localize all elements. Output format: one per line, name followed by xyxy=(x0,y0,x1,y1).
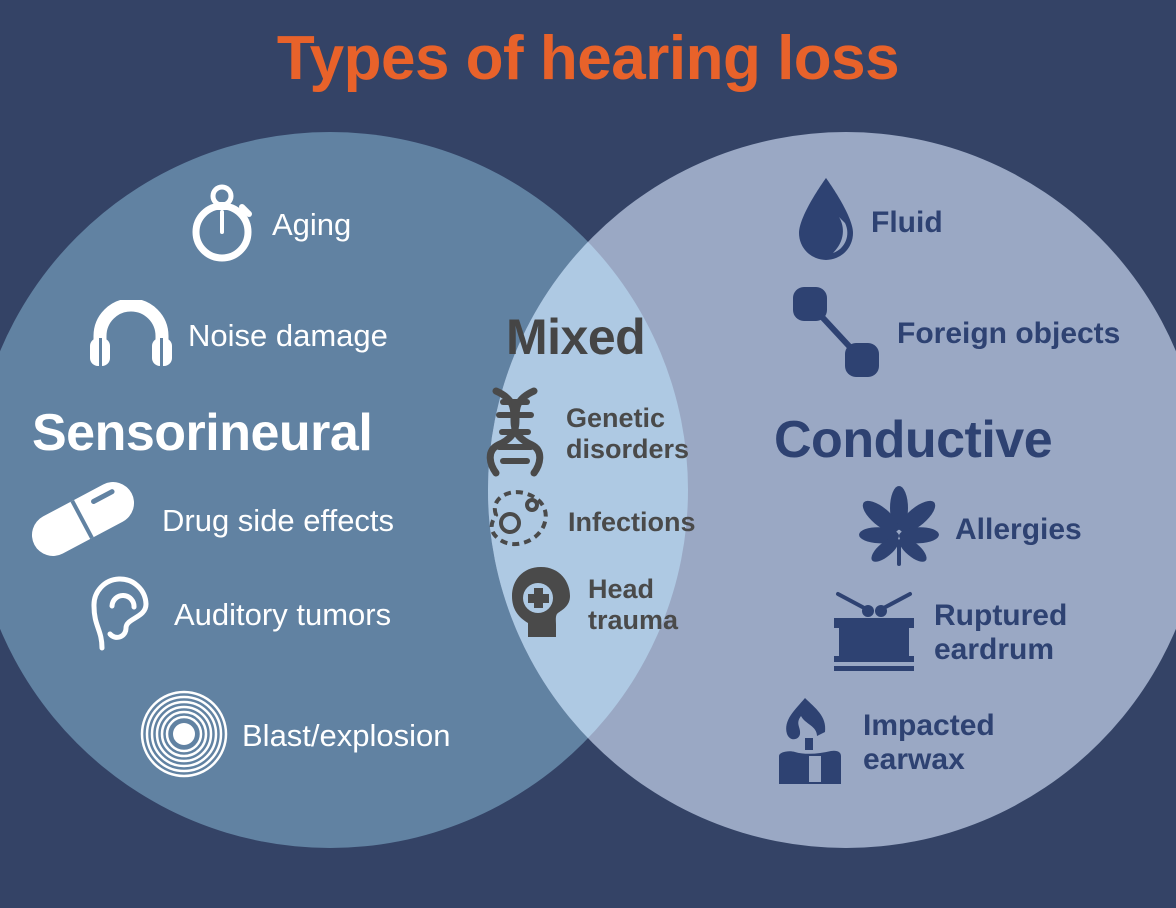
list-item-label: Fluid xyxy=(871,206,943,240)
water-drop-icon xyxy=(795,175,857,270)
cotton-swab-icon xyxy=(787,283,883,384)
list-item-blast-explosion: Blast/explosion xyxy=(140,690,451,783)
head-trauma-icon xyxy=(508,565,574,644)
list-item-allergies: Allergies xyxy=(857,486,1082,573)
stopwatch-icon xyxy=(186,182,258,269)
list-item-foreign-objects: Foreign objects xyxy=(787,283,1120,384)
bacteria-icon xyxy=(482,487,554,558)
leaf-icon xyxy=(857,486,941,573)
headphones-icon xyxy=(88,300,174,373)
list-item-label: Head trauma xyxy=(588,574,678,634)
list-item-fluid: Fluid xyxy=(795,175,943,270)
list-item-label: Genetic disorders xyxy=(566,403,689,463)
list-item-head-trauma: Head trauma xyxy=(508,565,678,644)
pill-icon xyxy=(18,480,148,563)
dna-icon xyxy=(478,385,552,482)
list-item-label: Ruptured eardrum xyxy=(934,599,1067,666)
list-item-label: Aging xyxy=(272,208,351,243)
list-item-auditory-tumors: Auditory tumors xyxy=(80,570,391,661)
list-item-label: Auditory tumors xyxy=(174,598,391,633)
list-item-label: Drug side effects xyxy=(162,504,394,539)
list-item-infections: Infections xyxy=(482,487,696,558)
list-item-label: Allergies xyxy=(955,513,1082,547)
set-heading-mixed: Mixed xyxy=(506,308,645,366)
list-item-label: Infections xyxy=(568,507,696,537)
candle-icon xyxy=(775,694,849,791)
list-item-label: Noise damage xyxy=(188,319,388,354)
set-heading-conductive: Conductive xyxy=(774,410,1052,470)
list-item-drug-side-effects: Drug side effects xyxy=(18,480,394,563)
set-heading-sensorineural: Sensorineural xyxy=(32,403,372,463)
list-item-aging: Aging xyxy=(186,182,351,269)
ear-icon xyxy=(80,570,160,661)
list-item-ruptured-eardrum: Ruptured eardrum xyxy=(828,588,1067,677)
list-item-label: Foreign objects xyxy=(897,317,1120,351)
drum-icon xyxy=(828,588,920,677)
infographic-canvas: Types of hearing loss Sensorineural Agin… xyxy=(0,0,1176,908)
list-item-label: Blast/explosion xyxy=(242,719,451,754)
list-item-label: Impacted earwax xyxy=(863,709,995,776)
list-item-noise-damage: Noise damage xyxy=(88,300,388,373)
list-item-impacted-earwax: Impacted earwax xyxy=(775,694,995,791)
list-item-genetic-disorders: Genetic disorders xyxy=(478,385,689,482)
blast-rings-icon xyxy=(140,690,228,783)
